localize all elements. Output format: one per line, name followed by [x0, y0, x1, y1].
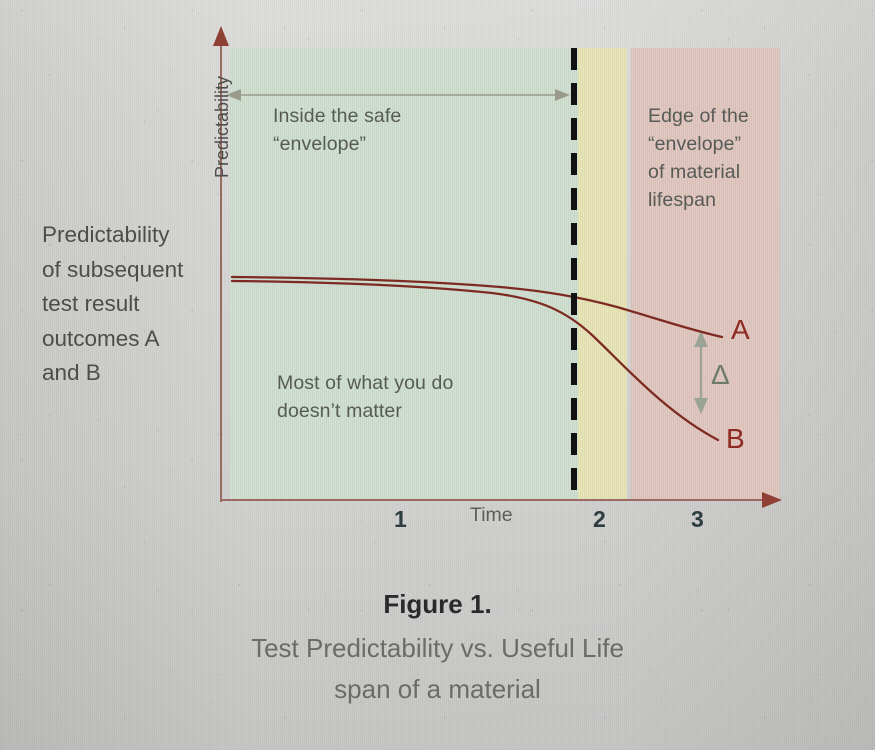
- curve-a-label: A: [731, 314, 750, 346]
- x-tick-2: 2: [593, 506, 606, 533]
- caption-title: Figure 1.: [0, 589, 875, 620]
- annotation-safe-envelope: Inside the safe “envelope”: [273, 102, 553, 158]
- x-axis-label: Time: [470, 504, 513, 527]
- y-axis-arrowhead: [213, 26, 229, 46]
- side-annotation: Predictability of subsequent test result…: [42, 218, 227, 391]
- delta-label: Δ: [711, 359, 730, 391]
- caption-subtitle: Test Predictability vs. Useful Life span…: [0, 628, 875, 710]
- curve-b-label: B: [726, 423, 745, 455]
- curve-a-path: [232, 277, 722, 337]
- delta-span-arrow: [694, 331, 708, 414]
- annotation-edge-of-envelope: Edge of the “envelope” of material lifes…: [648, 102, 788, 214]
- x-axis-arrowhead: [762, 492, 782, 508]
- annotation-most-of-what-you-do: Most of what you do doesn’t matter: [277, 369, 577, 425]
- x-tick-3: 3: [691, 506, 704, 533]
- safe-envelope-span-arrow: [226, 89, 570, 101]
- y-axis-label: Predictability: [212, 76, 233, 178]
- x-tick-1: 1: [394, 506, 407, 533]
